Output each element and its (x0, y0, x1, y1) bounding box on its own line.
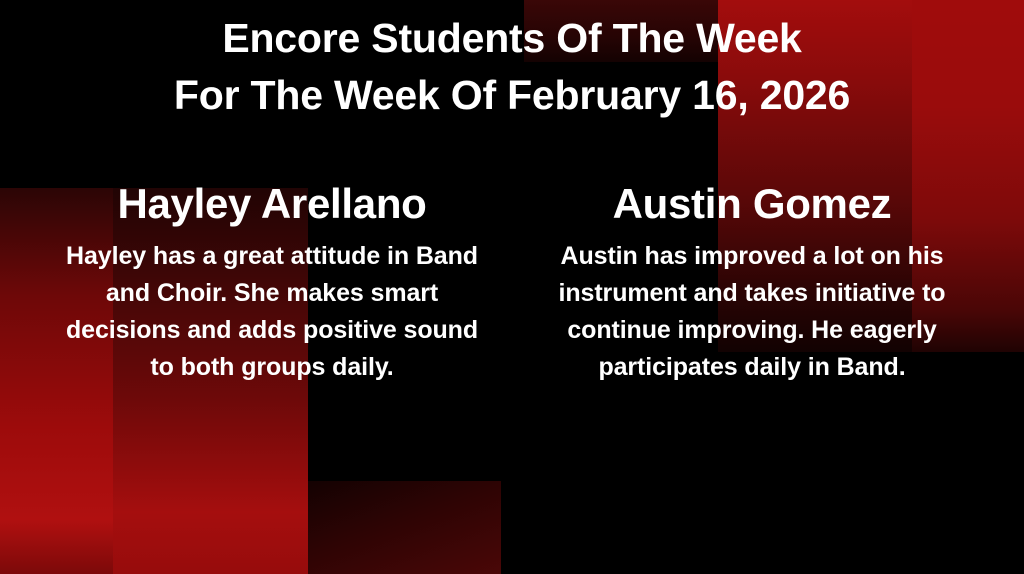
students-row: Hayley Arellano Hayley has a great attit… (0, 176, 1024, 386)
student-name: Austin Gomez (520, 176, 984, 232)
slide-canvas: Encore Students Of The Week For The Week… (0, 0, 1024, 574)
student-description: Austin has improved a lot on his instrum… (520, 238, 984, 386)
slide-content: Encore Students Of The Week For The Week… (0, 0, 1024, 574)
student-card-hayley-arellano: Hayley Arellano Hayley has a great attit… (32, 176, 512, 386)
title-line-2: For The Week Of February 16, 2026 (0, 67, 1024, 124)
student-description: Hayley has a great attitude in Band and … (40, 238, 504, 386)
student-name: Hayley Arellano (40, 176, 504, 232)
title-line-1: Encore Students Of The Week (0, 10, 1024, 67)
page-title: Encore Students Of The Week For The Week… (0, 10, 1024, 124)
student-card-austin-gomez: Austin Gomez Austin has improved a lot o… (512, 176, 992, 386)
